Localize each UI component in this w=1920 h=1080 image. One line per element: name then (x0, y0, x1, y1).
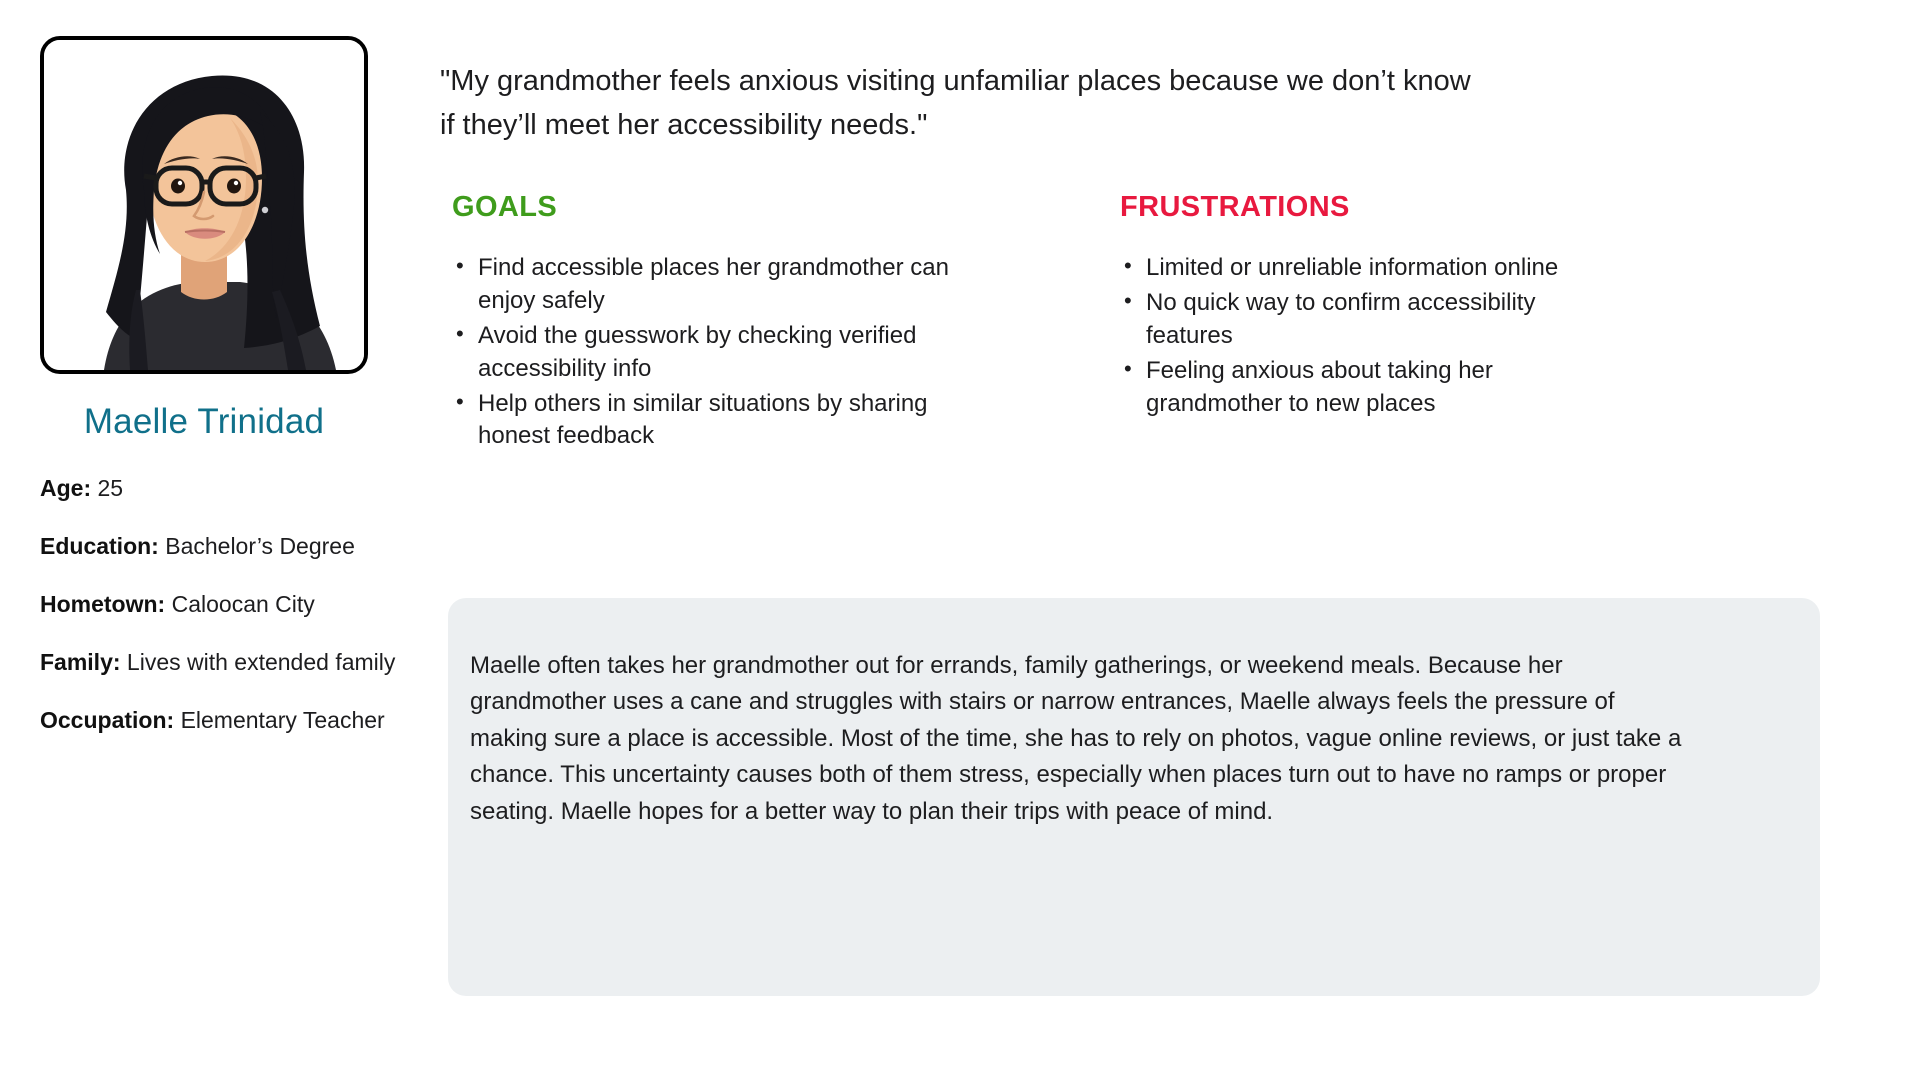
fact-label: Hometown: (40, 591, 165, 617)
fact-row-family: Family: Lives with extended family (40, 648, 460, 678)
goals-heading: GOALS (452, 191, 1000, 224)
goals-frustrations-row: GOALS Find accessible places her grandmo… (440, 191, 1860, 455)
fact-value: Bachelor’s Degree (165, 533, 355, 559)
fact-row-occupation: Occupation: Elementary Teacher (40, 706, 460, 736)
persona-profile-column: Maelle Trinidad Age: 25 Education: Bache… (40, 36, 460, 736)
persona-main-column: "My grandmother feels anxious visiting u… (440, 60, 1860, 455)
goals-list: Find accessible places her grandmother c… (452, 252, 1000, 453)
fact-row-education: Education: Bachelor’s Degree (40, 532, 460, 562)
list-item: Limited or unreliable information online (1120, 252, 1620, 285)
persona-name: Maelle Trinidad (40, 402, 368, 442)
fact-label: Age: (40, 475, 91, 501)
avatar-frame (40, 36, 368, 374)
list-item: Avoid the guesswork by checking verified… (452, 320, 952, 386)
persona-board: Maelle Trinidad Age: 25 Education: Bache… (0, 0, 1920, 1080)
fact-row-age: Age: 25 (40, 474, 460, 504)
fact-value: Elementary Teacher (181, 707, 385, 733)
list-item: Feeling anxious about taking her grandmo… (1120, 355, 1620, 421)
list-item: No quick way to confirm accessibility fe… (1120, 287, 1620, 353)
scenario-panel: Maelle often takes her grandmother out f… (448, 598, 1820, 996)
fact-row-hometown: Hometown: Caloocan City (40, 590, 460, 620)
fact-value: Caloocan City (172, 591, 315, 617)
fact-label: Education: (40, 533, 159, 559)
goals-section: GOALS Find accessible places her grandmo… (440, 191, 1000, 455)
list-item: Help others in similar situations by sha… (452, 388, 952, 454)
scenario-text: Maelle often takes her grandmother out f… (470, 648, 1690, 830)
persona-quote: "My grandmother feels anxious visiting u… (440, 60, 1490, 147)
list-item: Find accessible places her grandmother c… (452, 252, 952, 318)
frustrations-heading: FRUSTRATIONS (1120, 191, 1620, 224)
frustrations-list: Limited or unreliable information online… (1120, 252, 1620, 420)
persona-facts-list: Age: 25 Education: Bachelor’s Degree Hom… (40, 474, 460, 735)
frustrations-section: FRUSTRATIONS Limited or unreliable infor… (1000, 191, 1620, 455)
fact-value: Lives with extended family (127, 649, 395, 675)
fact-label: Family: (40, 649, 121, 675)
fact-label: Occupation: (40, 707, 174, 733)
fact-value: 25 (98, 475, 124, 501)
avatar-portrait-icon (44, 40, 364, 370)
